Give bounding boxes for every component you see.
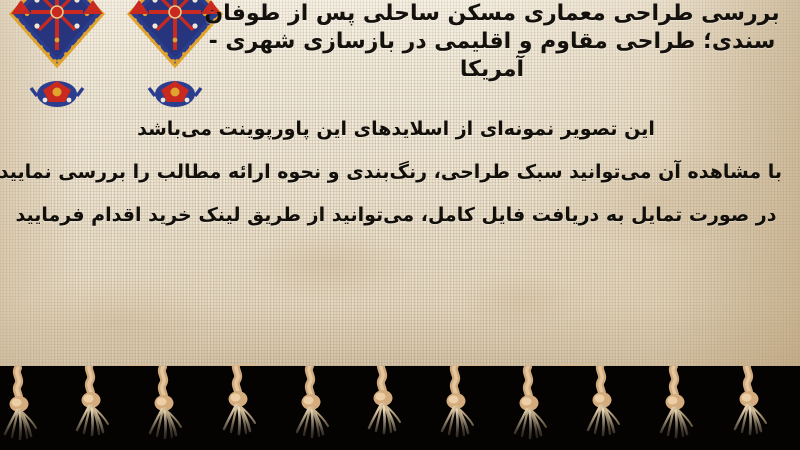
slide-body-text: این تصویر نمونه‌ای از اسلایدهای این پاور… (10, 108, 782, 237)
title-line-2: سندی؛ طراحی مقاوم و اقلیمی در بازسازی شه… (192, 28, 792, 56)
slide-title: بررسی طراحی معماری مسکن ساحلی پس از طوفا… (192, 0, 792, 84)
carpet-knotted-fringe (0, 366, 800, 450)
title-line-1: بررسی طراحی معماری مسکن ساحلی پس از طوفا… (192, 0, 792, 28)
body-line-1: این تصویر نمونه‌ای از اسلایدهای این پاور… (10, 108, 782, 151)
body-line-3: در صورت تمایل به دریافت فایل کامل، می‌تو… (10, 194, 782, 237)
title-line-3: آمریکا (192, 56, 792, 84)
body-line-2: با مشاهده آن می‌توانید سبک طراحی، رنگ‌بن… (10, 151, 782, 194)
slide-canvas: بررسی طراحی معماری مسکن ساحلی پس از طوفا… (0, 0, 800, 450)
